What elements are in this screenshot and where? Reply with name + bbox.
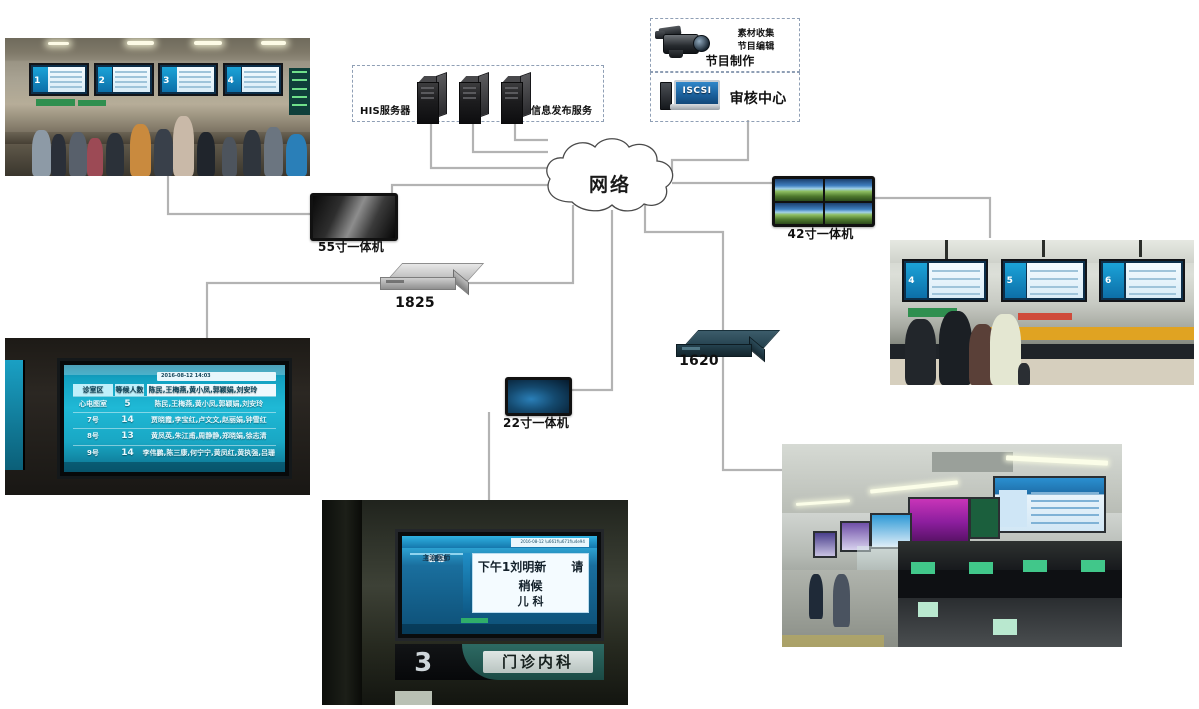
room-name-plate: 门诊内科 (483, 651, 593, 673)
title-value-text: 主治医师 (410, 553, 462, 564)
queue-waiting: 14 (113, 415, 141, 425)
label-switch-1825: 1825 (380, 295, 450, 311)
call-line-2: 稍候 (473, 577, 587, 594)
queue-waiting: 5 (113, 399, 141, 409)
iscsi-screen-text: ISCSI (676, 86, 718, 96)
label-material-collection: 素材收集 (723, 26, 789, 39)
display-42-inch-video-wall (772, 176, 875, 227)
server-tower-his (417, 76, 445, 122)
call-line-3: 儿 科 (473, 593, 587, 609)
counter-screen: 6 (1099, 259, 1185, 303)
call-line-1-right: 请 (571, 558, 583, 575)
room-number: 3 (414, 648, 432, 678)
counter-screen: 1 (29, 63, 89, 96)
queue-row: 7号 14 贾晓霞,李宝红,卢文文,赵丽娟,钟雪红 (73, 414, 276, 428)
display-22-inch (505, 377, 572, 416)
photo-registration-hall-right: 4 5 6 (890, 240, 1194, 385)
queue-room: 心电图室 (73, 399, 114, 409)
photo-registration-hall-left: 1 2 3 4 (5, 38, 310, 176)
pharmacy-screen (969, 497, 1000, 540)
room-name-text: 门诊内科 (483, 651, 593, 674)
queue-room: 9号 (73, 448, 114, 458)
pharmacy-screen (813, 531, 837, 557)
display-55-inch (310, 193, 398, 241)
label-publishing-service: 信息发布服务 (531, 102, 603, 117)
queue-col-waiting: 等候人数 (115, 384, 143, 396)
iscsi-storage-icon: ISCSI (660, 80, 726, 112)
room-sign-bar: 3 门诊内科 (395, 644, 603, 681)
queue-doctors: 黄凤英,朱江甫,周静静,郑晓娟,徐志清 (142, 431, 276, 441)
label-program-editing: 节目编辑 (723, 39, 789, 52)
pharmacy-screen (908, 497, 970, 544)
label-his-server: HIS服务器 (360, 102, 418, 117)
queue-waiting: 14 (113, 448, 141, 458)
label-display-22: 22寸一体机 (494, 414, 578, 431)
queue-waiting: 13 (113, 431, 141, 441)
queue-col-room: 诊室区 (73, 384, 114, 396)
pharmacy-screen (993, 476, 1106, 533)
counter-screen: 5 (1001, 259, 1087, 303)
photo-clinic-door: 2016-08-12 \u661f\u671f\u4e94 医 生 张志远 职 … (322, 500, 628, 705)
label-switch-1620: 1620 (664, 353, 734, 369)
label-program-production: 节目制作 (690, 52, 770, 69)
queue-doctors: 李伟鹏,陈三康,何宁宁,黄凤红,黄执强,吕珊 (142, 448, 276, 458)
counter-screen: 3 (158, 63, 218, 96)
queue-row: 心电图室 5 陈民,王梅燕,黄小凤,郭颖娟,刘安玲 (73, 397, 276, 411)
photo-queue-board: 2016-08-12 14:03 诊室区 等候人数 陈民,王梅燕,黄小凤,郭颖娟… (5, 338, 310, 495)
cloud-label: 网络 (536, 170, 684, 197)
queue-room: 7号 (73, 415, 114, 425)
server-tower-middle (459, 76, 487, 122)
call-message-panel: 下午1刘明新 请 稍候 儿 科 (472, 553, 588, 612)
call-line-1: 下午1刘明新 (478, 558, 546, 575)
queue-doctors: 陈民,王梅燕,黄小凤,郭颖娟,刘安玲 (142, 399, 276, 409)
queue-room: 8号 (73, 431, 114, 441)
queue-row: 8号 13 黄凤英,朱江甫,周静静,郑晓娟,徐志清 (73, 430, 276, 444)
queue-col-doctors: 陈民,王梅燕,黄小凤,郭颖娟,刘安玲 (147, 384, 276, 396)
queue-doctors: 贾晓霞,李宝红,卢文文,赵丽娟,钟雪红 (142, 415, 276, 425)
network-cloud: 网络 (536, 134, 684, 216)
label-review-center: 审核中心 (722, 88, 794, 108)
queue-board-panel: 2016-08-12 14:03 诊室区 等候人数 陈民,王梅燕,黄小凤,郭颖娟… (57, 358, 292, 479)
label-display-55: 55寸一体机 (303, 238, 399, 255)
clinic-door-panel: 2016-08-12 \u661f\u671f\u4e94 医 生 张志远 职 … (395, 529, 603, 642)
counter-screen: 2 (94, 63, 154, 96)
topology-diagram: HIS服务器 信息发布服务 素材收集 节目编辑 节目制作 ISCSI 审核中心 … (0, 0, 1199, 709)
counter-screen: 4 (902, 259, 988, 303)
photo-pharmacy-hall (782, 444, 1122, 647)
counter-screen: 4 (223, 63, 283, 96)
server-tower-publishing (501, 76, 529, 122)
queue-row: 9号 14 李伟鹏,陈三康,何宁宁,黄凤红,黄执强,吕珊 (73, 446, 276, 460)
switch-1825 (380, 263, 468, 289)
label-display-42: 42寸一体机 (772, 225, 869, 242)
